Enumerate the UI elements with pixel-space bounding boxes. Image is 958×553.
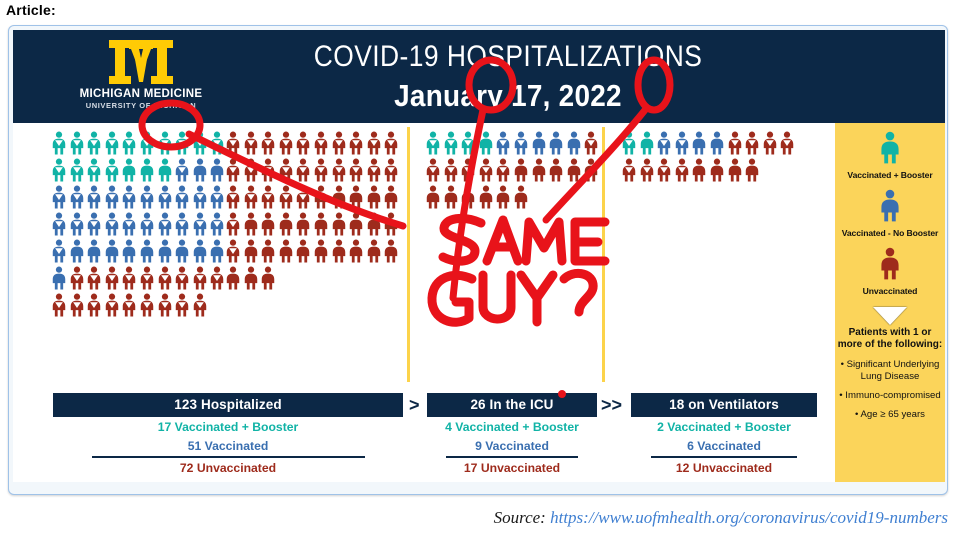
person-icon <box>260 158 276 182</box>
person-icon <box>51 212 67 236</box>
pictogram-person <box>639 131 655 155</box>
pictogram-person <box>157 293 173 317</box>
michigan-medicine-logo: MICHIGAN MEDICINE UNIVERSITY OF MICHIGAN <box>61 38 221 118</box>
person-icon <box>656 158 672 182</box>
person-icon <box>727 158 743 182</box>
person-icon <box>260 212 276 236</box>
infographic-header: MICHIGAN MEDICINE UNIVERSITY OF MICHIGAN… <box>13 30 945 123</box>
person-icon <box>243 158 259 182</box>
person-icon <box>313 185 329 209</box>
pictogram-row <box>225 266 401 290</box>
pictogram-person <box>348 131 364 155</box>
pictogram-row <box>425 185 601 209</box>
person-icon <box>744 158 760 182</box>
person-icon <box>566 158 582 182</box>
person-icon <box>243 266 259 290</box>
stat-rule <box>651 456 796 458</box>
person-icon <box>331 239 347 263</box>
person-icon <box>348 239 364 263</box>
person-icon <box>835 189 945 227</box>
person-icon <box>139 266 155 290</box>
pictogram-person <box>157 131 173 155</box>
pictogram-person <box>744 131 760 155</box>
person-icon <box>139 293 155 317</box>
pictogram-person <box>478 158 494 182</box>
person-icon <box>104 185 120 209</box>
person-icon <box>348 212 364 236</box>
pictogram-person <box>104 212 120 236</box>
stat-unvaccinated-hospitalized: 72 Unvaccinated <box>53 461 403 477</box>
pictogram-person <box>121 239 137 263</box>
infographic-body: 123 Hospitalized 17 Vaccinated + Booster… <box>13 123 945 482</box>
person-icon <box>278 131 294 155</box>
person-icon <box>69 158 85 182</box>
pictogram-person <box>674 131 690 155</box>
person-icon <box>157 239 173 263</box>
stat-title-hospitalized: 123 Hospitalized <box>53 393 403 417</box>
legend-label-booster: Vaccinated + Booster <box>835 171 945 181</box>
stat-booster-hospitalized: 17 Vaccinated + Booster <box>53 420 403 436</box>
person-icon <box>51 266 67 290</box>
pictogram-person <box>313 185 329 209</box>
person-icon <box>121 212 137 236</box>
pictogram-person <box>495 131 511 155</box>
pictogram-person <box>209 131 225 155</box>
person-icon <box>531 131 547 155</box>
person-icon <box>513 158 529 182</box>
pictogram-row <box>621 158 797 182</box>
person-icon <box>192 185 208 209</box>
pictogram-person <box>779 131 795 155</box>
pictogram-person <box>225 212 241 236</box>
pictogram-person <box>639 158 655 182</box>
person-icon <box>51 293 67 317</box>
pictogram-row <box>225 185 401 209</box>
pictogram-person <box>366 239 382 263</box>
pictogram-person <box>51 239 67 263</box>
person-icon <box>295 185 311 209</box>
pictogram-person <box>495 185 511 209</box>
person-icon <box>51 158 67 182</box>
person-icon <box>174 185 190 209</box>
pictogram-row <box>225 239 401 263</box>
person-icon <box>192 158 208 182</box>
pictogram-person <box>566 131 582 155</box>
person-icon <box>313 158 329 182</box>
person-icon <box>225 185 241 209</box>
pictogram-person <box>139 131 155 155</box>
person-icon <box>121 239 137 263</box>
person-icon <box>313 239 329 263</box>
pictogram-person <box>139 185 155 209</box>
pictogram-person <box>51 158 67 182</box>
pictogram-person <box>548 131 564 155</box>
pictogram-person <box>727 158 743 182</box>
pictogram-person <box>104 185 120 209</box>
stat-vaccinated-hospitalized: 51 Vaccinated <box>53 439 403 455</box>
person-icon <box>709 131 725 155</box>
pictogram-person <box>104 293 120 317</box>
person-icon <box>104 293 120 317</box>
person-icon <box>583 158 599 182</box>
person-icon <box>443 185 459 209</box>
person-icon <box>531 158 547 182</box>
pictogram-person <box>674 158 690 182</box>
pictogram-person <box>69 212 85 236</box>
person-icon <box>583 131 599 155</box>
person-icon <box>460 158 476 182</box>
person-icon <box>69 239 85 263</box>
stat-panel-hospitalized: 123 Hospitalized 17 Vaccinated + Booster… <box>53 393 403 477</box>
pictogram-row <box>425 131 601 155</box>
block-m-icon <box>105 38 177 86</box>
pictogram-person <box>366 185 382 209</box>
person-icon <box>709 158 725 182</box>
pictogram-person <box>425 158 441 182</box>
person-icon <box>566 131 582 155</box>
person-icon <box>674 158 690 182</box>
person-icon <box>879 131 901 164</box>
pictogram-person <box>295 239 311 263</box>
pictogram-person <box>157 212 173 236</box>
pictogram-person <box>295 212 311 236</box>
stat-booster-icu: 4 Vaccinated + Booster <box>427 420 597 436</box>
separator-gt-1: > <box>409 395 420 416</box>
pictogram-person <box>295 185 311 209</box>
pictogram-person <box>157 185 173 209</box>
pictogram-person <box>443 185 459 209</box>
pictogram-person <box>157 239 173 263</box>
person-icon <box>243 212 259 236</box>
stat-booster-ventilators: 2 Vaccinated + Booster <box>631 420 817 436</box>
pictogram-person <box>192 266 208 290</box>
pictogram-person <box>583 158 599 182</box>
person-icon <box>879 189 901 222</box>
pictogram-person <box>69 185 85 209</box>
person-icon <box>548 131 564 155</box>
pictogram-person <box>86 212 102 236</box>
source-label: Source: <box>494 508 546 527</box>
person-icon <box>478 131 494 155</box>
stat-title-ventilators: 18 on Ventilators <box>631 393 817 417</box>
pictogram-person <box>278 239 294 263</box>
person-icon <box>243 131 259 155</box>
legend-label-vaccinated: Vaccinated - No Booster <box>835 229 945 239</box>
pictogram-person <box>656 131 672 155</box>
person-icon <box>639 131 655 155</box>
person-icon <box>104 266 120 290</box>
person-icon <box>331 212 347 236</box>
person-icon <box>174 293 190 317</box>
pictogram-person <box>86 158 102 182</box>
person-icon <box>313 131 329 155</box>
pictogram-person <box>104 239 120 263</box>
pictogram-person <box>260 131 276 155</box>
pictogram-person <box>104 158 120 182</box>
person-icon <box>443 158 459 182</box>
pictogram-person <box>174 185 190 209</box>
person-icon <box>331 185 347 209</box>
person-icon <box>157 131 173 155</box>
pictogram-person <box>192 293 208 317</box>
person-icon <box>366 239 382 263</box>
pictogram-person <box>278 158 294 182</box>
stat-unvaccinated-ventilators: 12 Unvaccinated <box>631 461 817 477</box>
pictogram-person <box>331 131 347 155</box>
divider-2 <box>602 127 605 382</box>
pictogram-person <box>460 158 476 182</box>
person-icon <box>139 185 155 209</box>
pictogram-person <box>366 131 382 155</box>
pictogram-person <box>225 158 241 182</box>
person-icon <box>348 158 364 182</box>
legend-bullet-lung: • Significant Underlying Lung Disease <box>835 359 945 383</box>
person-icon <box>243 239 259 263</box>
pictogram-person <box>51 185 67 209</box>
pictogram-person <box>331 239 347 263</box>
pictogram-person <box>313 239 329 263</box>
person-icon <box>104 131 120 155</box>
person-icon <box>69 212 85 236</box>
pictogram-person <box>121 185 137 209</box>
person-icon <box>139 212 155 236</box>
person-icon <box>69 185 85 209</box>
pictogram-person <box>460 131 476 155</box>
pictogram-row <box>51 293 227 317</box>
pictogram-person <box>243 266 259 290</box>
person-icon <box>425 158 441 182</box>
person-icon <box>225 212 241 236</box>
pictogram-person <box>260 266 276 290</box>
person-icon <box>495 185 511 209</box>
pictogram-person <box>425 185 441 209</box>
pictogram-person <box>744 158 760 182</box>
pictogram-person <box>383 131 399 155</box>
source-url[interactable]: https://www.uofmhealth.org/coronavirus/c… <box>550 508 948 527</box>
person-icon <box>621 131 637 155</box>
person-icon <box>209 158 225 182</box>
person-icon <box>366 158 382 182</box>
person-icon <box>174 131 190 155</box>
pictogram-person <box>348 158 364 182</box>
pictogram-row <box>225 131 401 155</box>
pictogram-row <box>225 212 401 236</box>
person-icon <box>478 185 494 209</box>
pictogram-person <box>51 131 67 155</box>
pictogram-person <box>383 185 399 209</box>
person-icon <box>495 131 511 155</box>
pictogram-person <box>260 239 276 263</box>
pictogram-person <box>139 266 155 290</box>
person-icon <box>513 131 529 155</box>
infographic-date: January 17, 2022 <box>256 78 760 114</box>
pictogram-person <box>691 131 707 155</box>
block-m-svg <box>105 38 177 86</box>
pictogram-row <box>51 212 227 236</box>
person-icon <box>460 131 476 155</box>
pictogram-person <box>225 131 241 155</box>
person-icon <box>174 239 190 263</box>
pictogram-person <box>121 158 137 182</box>
person-icon <box>313 212 329 236</box>
legend-bullet-age: • Age ≥ 65 years <box>835 409 945 421</box>
pictogram-person <box>656 158 672 182</box>
pictogram-person <box>383 212 399 236</box>
person-icon <box>86 212 102 236</box>
pictogram-person <box>121 293 137 317</box>
pictogram-person <box>383 239 399 263</box>
pictogram-person <box>174 266 190 290</box>
pictogram-row <box>51 266 227 290</box>
pictogram-person <box>192 212 208 236</box>
person-icon <box>121 158 137 182</box>
person-icon <box>209 185 225 209</box>
person-icon <box>104 158 120 182</box>
person-icon <box>225 239 241 263</box>
person-icon <box>157 293 173 317</box>
pictogram-person <box>278 185 294 209</box>
person-icon <box>86 158 102 182</box>
pictogram-person <box>366 158 382 182</box>
pictogram-person <box>51 293 67 317</box>
pictogram-row <box>51 158 227 182</box>
pictogram-row <box>51 185 227 209</box>
pictogram-person <box>348 185 364 209</box>
person-icon <box>744 131 760 155</box>
pictogram-ventilators-block <box>621 131 797 185</box>
pictogram-row <box>621 131 797 155</box>
pictogram-person <box>243 131 259 155</box>
pictogram-person <box>209 212 225 236</box>
person-icon <box>192 293 208 317</box>
person-icon <box>104 212 120 236</box>
stat-rule <box>446 456 579 458</box>
pictogram-row <box>225 158 401 182</box>
pictogram-person <box>548 158 564 182</box>
person-icon <box>192 239 208 263</box>
person-icon <box>260 131 276 155</box>
pictogram-person <box>192 185 208 209</box>
pictogram-person <box>260 212 276 236</box>
legend-bullet-immuno: • Immuno-compromised <box>835 390 945 402</box>
pictogram-person <box>348 239 364 263</box>
pictogram-person <box>478 185 494 209</box>
pictogram-person <box>566 158 582 182</box>
pictogram-person <box>621 131 637 155</box>
pictogram-person <box>225 185 241 209</box>
person-icon <box>779 131 795 155</box>
pictogram-person <box>121 131 137 155</box>
person-icon <box>656 131 672 155</box>
person-icon <box>157 212 173 236</box>
person-icon <box>174 266 190 290</box>
person-icon <box>209 131 225 155</box>
pictogram-person <box>331 158 347 182</box>
person-icon <box>383 212 399 236</box>
pictogram-person <box>174 293 190 317</box>
person-icon <box>478 158 494 182</box>
stat-panel-ventilators: 18 on Ventilators 2 Vaccinated + Booster… <box>631 393 817 477</box>
person-icon <box>243 185 259 209</box>
person-icon <box>762 131 778 155</box>
pictogram-person <box>243 185 259 209</box>
pictogram-hospitalized-block-b <box>225 131 401 293</box>
person-icon <box>621 158 637 182</box>
person-icon <box>295 158 311 182</box>
pictogram-person <box>313 212 329 236</box>
pictogram-area <box>13 123 835 388</box>
stat-unvaccinated-icu: 17 Unvaccinated <box>427 461 597 477</box>
person-icon <box>295 131 311 155</box>
logo-subtitle: UNIVERSITY OF MICHIGAN <box>61 101 221 110</box>
pictogram-person <box>69 266 85 290</box>
person-icon <box>425 131 441 155</box>
pictogram-row <box>51 131 227 155</box>
person-icon <box>157 158 173 182</box>
person-icon <box>121 266 137 290</box>
person-icon <box>192 212 208 236</box>
pictogram-row <box>425 158 601 182</box>
pictogram-person <box>174 239 190 263</box>
pictogram-person <box>69 239 85 263</box>
pictogram-row <box>51 239 227 263</box>
person-icon <box>51 131 67 155</box>
logo-name: MICHIGAN MEDICINE <box>61 88 221 100</box>
pictogram-person <box>295 131 311 155</box>
pictogram-person <box>139 158 155 182</box>
person-icon <box>86 185 102 209</box>
person-icon <box>366 212 382 236</box>
pictogram-person <box>157 158 173 182</box>
pictogram-person <box>762 131 778 155</box>
article-label: Article: <box>6 2 56 18</box>
pictogram-person <box>192 239 208 263</box>
stat-vaccinated-icu: 9 Vaccinated <box>427 439 597 455</box>
person-icon <box>443 131 459 155</box>
pictogram-hospitalized-block-a <box>51 131 227 320</box>
pictogram-person <box>121 266 137 290</box>
person-icon <box>139 158 155 182</box>
stat-vaccinated-ventilators: 6 Vaccinated <box>631 439 817 455</box>
person-icon <box>121 293 137 317</box>
source-line: Source: https://www.uofmhealth.org/coron… <box>0 508 948 528</box>
pictogram-person <box>383 158 399 182</box>
stat-panel-icu: 26 In the ICU 4 Vaccinated + Booster 9 V… <box>427 393 597 477</box>
legend-item-unvaccinated: Unvaccinated <box>835 247 945 297</box>
person-icon <box>548 158 564 182</box>
pictogram-icu-block <box>425 131 601 212</box>
pictogram-person <box>209 185 225 209</box>
pictogram-person <box>313 131 329 155</box>
stat-title-icu: 26 In the ICU <box>427 393 597 417</box>
person-icon <box>278 212 294 236</box>
pictogram-person <box>51 266 67 290</box>
person-icon <box>331 158 347 182</box>
person-icon <box>225 131 241 155</box>
pictogram-person <box>174 131 190 155</box>
person-icon <box>174 158 190 182</box>
person-icon <box>295 239 311 263</box>
pictogram-person <box>348 212 364 236</box>
pictogram-person <box>86 293 102 317</box>
person-icon <box>225 266 241 290</box>
pictogram-person <box>192 158 208 182</box>
pictogram-person <box>104 266 120 290</box>
pictogram-person <box>157 266 173 290</box>
pictogram-person <box>209 266 225 290</box>
pictogram-person <box>174 212 190 236</box>
pictogram-person <box>313 158 329 182</box>
